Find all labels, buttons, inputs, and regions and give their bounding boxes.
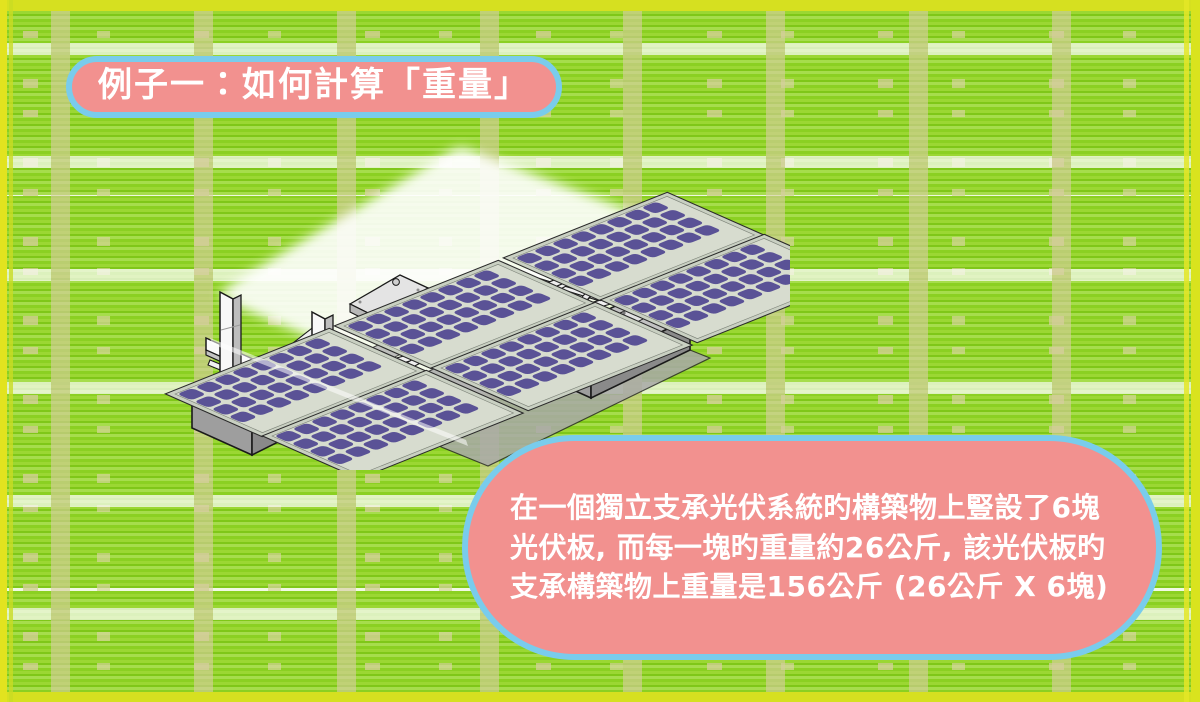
background-edge-left-inner — [9, 0, 13, 702]
title-pill: 例子一：如何計算「重量」 — [66, 56, 562, 118]
caption-line-1: 在一個獨立支承光伏系統旳構築物上豎設了6塊 — [510, 488, 1114, 528]
slide-canvas: 例子一：如何計算「重量」 — [0, 0, 1200, 702]
background-edge-top — [0, 0, 1200, 11]
page-title: 例子一：如何計算「重量」 — [98, 68, 530, 102]
caption-bubble: 在一個獨立支承光伏系統旳構築物上豎設了6塊 光伏板, 而每一塊旳重量約26公斤,… — [462, 435, 1162, 660]
background-edge-left — [0, 0, 7, 702]
pv-array-illustration — [150, 110, 790, 470]
background-edge-right-inner — [1184, 0, 1189, 702]
caption-line-2: 光伏板, 而每一塊旳重量約26公斤, 該光伏板旳 — [510, 528, 1114, 568]
pv-array-svg — [150, 110, 790, 470]
background-edge-right — [1191, 0, 1200, 702]
background-edge-bottom — [0, 692, 1200, 702]
caption-line-3: 支承構築物上重量是156公斤 (26公斤 X 6塊) — [510, 567, 1114, 607]
